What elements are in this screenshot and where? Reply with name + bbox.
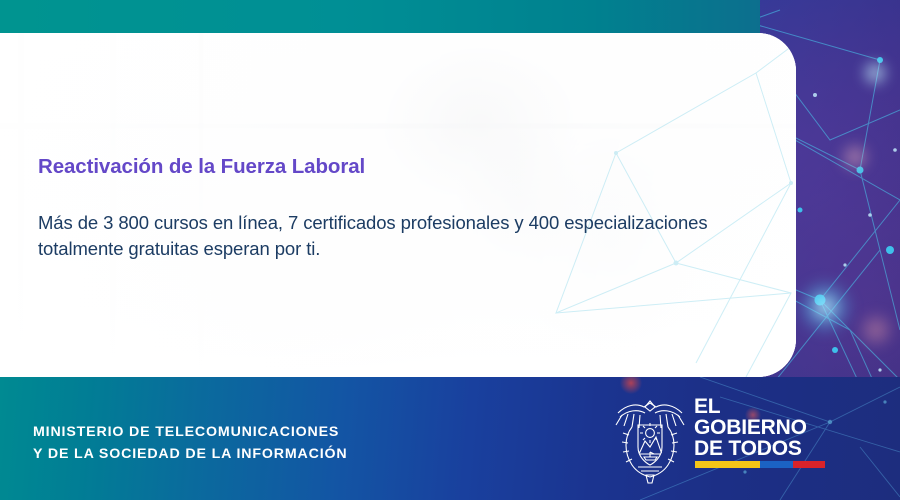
ecuador-coat-of-arms-icon [612, 395, 688, 485]
content-card: Reactivación de la Fuerza Laboral Más de… [0, 33, 796, 377]
government-lockup: EL GOBIERNO DE TODOS [612, 395, 892, 485]
ecuador-flag-bar [695, 461, 825, 468]
flag-red-segment [793, 461, 826, 468]
top-accent-strip [0, 0, 760, 33]
ministry-name: MINISTERIO DE TELECOMUNICACIONES Y DE LA… [33, 421, 348, 465]
gov-slogan: EL GOBIERNO DE TODOS [694, 397, 807, 459]
body-text: Más de 3 800 cursos en línea, 7 certific… [38, 210, 738, 264]
flag-blue-segment [760, 461, 793, 468]
card-text-block: Reactivación de la Fuerza Laboral Más de… [38, 155, 738, 263]
headline: Reactivación de la Fuerza Laboral [38, 155, 738, 180]
flag-yellow-segment [695, 461, 760, 468]
promotional-banner: Reactivación de la Fuerza Laboral Más de… [0, 0, 900, 500]
